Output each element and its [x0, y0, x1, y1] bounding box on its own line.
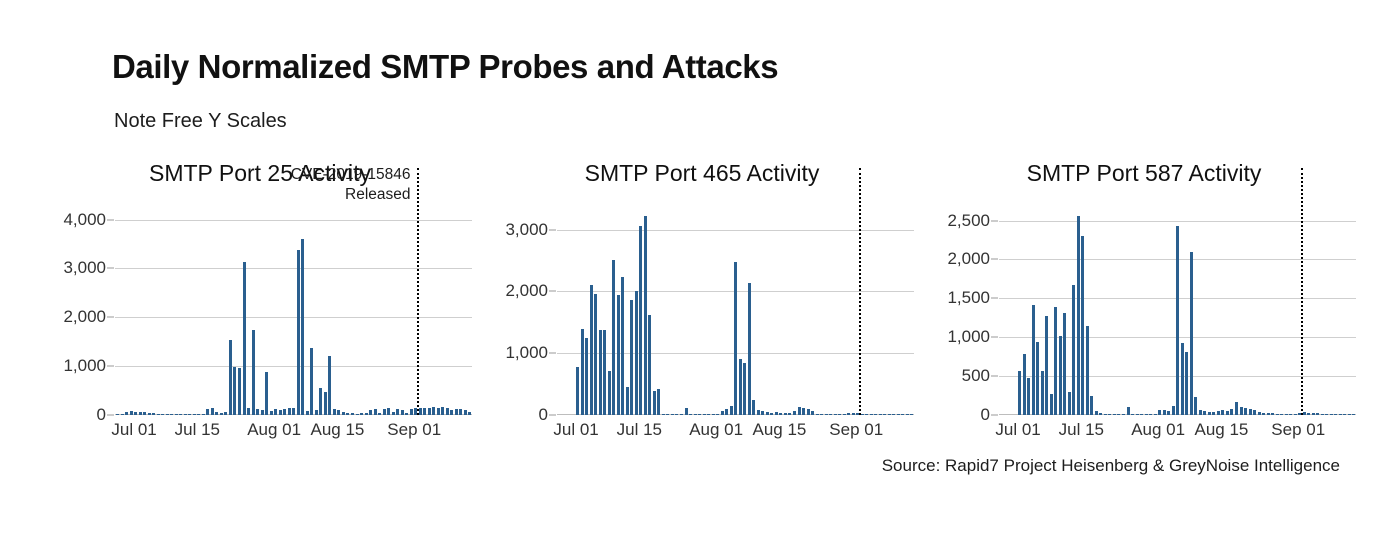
- bar: [125, 412, 128, 415]
- bar: [1316, 413, 1319, 415]
- bar: [761, 411, 764, 415]
- bar: [657, 389, 660, 415]
- bar: [1285, 414, 1288, 415]
- bar: [1072, 285, 1075, 415]
- x-axis-tick-label: Sep 01: [829, 420, 883, 440]
- bar: [383, 409, 386, 415]
- bar: [730, 406, 733, 415]
- bar: [229, 340, 232, 415]
- bar: [775, 412, 778, 415]
- x-axis-tick-label: Aug 15: [1194, 420, 1248, 440]
- bar: [297, 250, 300, 415]
- x-axis-tick-label: Jul 01: [553, 420, 598, 440]
- bar: [206, 409, 209, 415]
- bar: [879, 414, 882, 415]
- bar: [1117, 414, 1120, 415]
- bar: [1217, 411, 1220, 415]
- bar: [139, 412, 142, 415]
- bar: [617, 295, 620, 415]
- bar: [130, 411, 133, 415]
- bar: [152, 413, 155, 415]
- bar: [401, 410, 404, 415]
- bar: [639, 226, 642, 415]
- bar: [270, 411, 273, 415]
- bar: [834, 414, 837, 415]
- bar: [410, 409, 413, 415]
- bar: [1149, 414, 1152, 415]
- bar: [274, 409, 277, 415]
- bar: [319, 388, 322, 415]
- bar: [906, 414, 909, 415]
- y-axis-tick-label: 1,000: [947, 327, 990, 347]
- y-axis-tick-mark: [549, 229, 556, 230]
- bar: [675, 414, 678, 415]
- y-axis-tick-mark: [107, 366, 114, 367]
- bar: [662, 414, 665, 415]
- bar: [870, 414, 873, 415]
- bar: [365, 413, 368, 415]
- bar: [1145, 414, 1148, 415]
- bar: [1059, 336, 1062, 415]
- bar: [612, 260, 615, 415]
- bar: [1271, 413, 1274, 415]
- bar: [1235, 402, 1238, 415]
- bar: [1113, 414, 1116, 415]
- bar: [784, 413, 787, 415]
- y-axis-tick-label: 2,000: [505, 281, 548, 301]
- chart-title: SMTP Port 465 Activity: [482, 160, 922, 187]
- bar: [1230, 409, 1233, 415]
- bar: [1023, 354, 1026, 415]
- bar: [685, 408, 688, 415]
- y-axis-tick-mark: [107, 268, 114, 269]
- bar: [892, 414, 895, 415]
- bar: [698, 414, 701, 415]
- bar: [680, 414, 683, 415]
- bar: [324, 392, 327, 415]
- y-axis-tick-label: 3,000: [63, 258, 106, 278]
- bar: [288, 408, 291, 415]
- bar: [770, 413, 773, 415]
- bar: [184, 414, 187, 415]
- bar: [888, 414, 891, 415]
- x-axis-tick-label: Aug 01: [689, 420, 743, 440]
- chart-panel-port-587: SMTP Port 587 Activity 05001,0001,5002,0…: [924, 160, 1364, 450]
- y-axis-tick-label: 1,500: [947, 288, 990, 308]
- bar: [342, 412, 345, 415]
- bar: [252, 330, 255, 415]
- bar: [360, 413, 363, 415]
- x-axis-tick-label: Jul 01: [995, 420, 1040, 440]
- page-subtitle: Note Free Y Scales: [114, 110, 287, 133]
- bar: [1108, 414, 1111, 415]
- bar: [279, 410, 282, 415]
- y-axis-tick-mark: [549, 415, 556, 416]
- bar: [437, 408, 440, 415]
- y-axis-tick-mark: [991, 298, 998, 299]
- bar: [689, 414, 692, 415]
- y-axis-tick-mark: [991, 220, 998, 221]
- bar: [644, 216, 647, 416]
- bar: [807, 409, 810, 415]
- bar: [802, 408, 805, 415]
- bar: [816, 414, 819, 415]
- source-attribution: Source: Rapid7 Project Heisenberg & Grey…: [882, 456, 1340, 476]
- bar: [1194, 397, 1197, 415]
- bar: [694, 414, 697, 415]
- bar: [283, 409, 286, 415]
- bar: [464, 410, 467, 415]
- bar: [1276, 414, 1279, 415]
- bar: [1136, 414, 1139, 415]
- bar: [1334, 414, 1337, 415]
- bar: [1158, 410, 1161, 415]
- y-axis-tick-mark: [107, 317, 114, 318]
- y-axis-tick-label: 3,000: [505, 220, 548, 240]
- bar: [829, 414, 832, 415]
- bar: [261, 410, 264, 415]
- bar: [820, 414, 823, 415]
- x-axis-tick-label: Jul 01: [111, 420, 156, 440]
- bar: [1104, 414, 1107, 415]
- bar: [405, 413, 408, 415]
- bar: [1127, 407, 1130, 415]
- bar: [811, 411, 814, 415]
- bar: [446, 408, 449, 415]
- bar: [576, 367, 579, 415]
- bar: [351, 413, 354, 415]
- plot-area: 05001,0001,5002,0002,500Jul 01Jul 15Aug …: [999, 205, 1356, 415]
- plot-area: 01,0002,0003,0004,000CVE-2019-15846Relea…: [115, 205, 472, 415]
- bar: [1032, 305, 1035, 415]
- bar: [1063, 313, 1066, 415]
- bar: [423, 408, 426, 415]
- bar: [1330, 414, 1333, 415]
- bar: [459, 409, 462, 415]
- bar: [301, 239, 304, 415]
- bar: [1122, 414, 1125, 415]
- bar: [116, 414, 119, 415]
- bar: [671, 414, 674, 415]
- bar: [1289, 414, 1292, 415]
- bar: [1054, 307, 1057, 415]
- bar: [1190, 252, 1193, 415]
- y-axis-tick-mark: [107, 415, 114, 416]
- bar: [356, 414, 359, 415]
- x-axis-tick-label: Sep 01: [1271, 420, 1325, 440]
- chart-title: SMTP Port 587 Activity: [924, 160, 1364, 187]
- bar: [143, 412, 146, 415]
- cve-release-annotation: CVE-2019-15846Released: [291, 165, 417, 205]
- bar: [1050, 394, 1053, 415]
- bar: [910, 414, 913, 415]
- bar: [238, 368, 241, 415]
- bar: [779, 413, 782, 415]
- bar: [793, 411, 796, 415]
- bar: [428, 408, 431, 415]
- bar: [734, 262, 737, 415]
- bar: [748, 283, 751, 415]
- bar: [1018, 371, 1021, 415]
- bar: [621, 277, 624, 415]
- bar: [419, 408, 422, 415]
- bar: [1294, 414, 1297, 415]
- bar: [1176, 226, 1179, 415]
- bar: [1203, 411, 1206, 415]
- bar: [825, 414, 828, 415]
- bar: [852, 413, 855, 415]
- bar: [432, 407, 435, 415]
- bar: [707, 414, 710, 415]
- bar: [387, 408, 390, 415]
- bar: [441, 407, 444, 415]
- bar: [581, 329, 584, 415]
- bar: [211, 408, 214, 415]
- bar: [1041, 371, 1044, 415]
- bar: [310, 348, 313, 415]
- bar: [1185, 352, 1188, 415]
- bar: [233, 367, 236, 415]
- bar: [757, 410, 760, 415]
- y-axis-tick-label: 2,000: [63, 307, 106, 327]
- bar: [603, 330, 606, 415]
- bar: [148, 413, 151, 415]
- y-axis-tick-label: 0: [97, 405, 106, 425]
- bar: [590, 285, 593, 415]
- bar: [346, 413, 349, 415]
- bar: [1199, 410, 1202, 415]
- bar: [843, 414, 846, 415]
- bar: [1086, 326, 1089, 415]
- bar: [1140, 414, 1143, 415]
- x-axis-tick-label: Jul 15: [1059, 420, 1104, 440]
- bar: [1208, 412, 1211, 416]
- bar: [1167, 411, 1170, 415]
- bar: [1280, 414, 1283, 415]
- bar: [292, 408, 295, 415]
- y-axis-tick-mark: [549, 353, 556, 354]
- y-axis-tick-mark: [107, 219, 114, 220]
- bar: [1343, 414, 1346, 415]
- bar: [1027, 378, 1030, 415]
- bar: [315, 410, 318, 415]
- y-axis-tick-label: 0: [981, 405, 990, 425]
- bar: [739, 359, 742, 415]
- bar: [847, 413, 850, 415]
- y-axis-tick-label: 1,000: [505, 343, 548, 363]
- bar: [725, 409, 728, 415]
- bar: [666, 414, 669, 415]
- bar: [188, 414, 191, 415]
- y-axis-tick-mark: [991, 415, 998, 416]
- bar: [374, 409, 377, 415]
- bar: [703, 414, 706, 415]
- bar: [1240, 407, 1243, 415]
- bar: [1249, 409, 1252, 415]
- bar: [1181, 343, 1184, 415]
- bar: [468, 412, 471, 415]
- bar: [599, 330, 602, 415]
- bar: [215, 412, 218, 415]
- bar: [721, 411, 724, 415]
- bar: [1253, 410, 1256, 415]
- x-axis-tick-label: Aug 15: [752, 420, 806, 440]
- bar: [369, 410, 372, 415]
- bar: [788, 413, 791, 415]
- plot-area: 01,0002,0003,000Jul 01Jul 15Aug 01Aug 15…: [557, 205, 914, 415]
- bar: [193, 414, 196, 415]
- cve-release-marker-line: [417, 168, 419, 415]
- bar: [630, 300, 633, 415]
- bar: [594, 294, 597, 415]
- bar: [157, 414, 160, 415]
- y-axis-tick-label: 500: [962, 366, 990, 386]
- bar: [392, 412, 395, 415]
- bar: [306, 411, 309, 415]
- page-title: Daily Normalized SMTP Probes and Attacks: [112, 48, 778, 86]
- bar: [766, 412, 769, 415]
- bar: [1172, 406, 1175, 415]
- bar: [838, 414, 841, 415]
- bar: [865, 414, 868, 415]
- y-axis-tick-label: 2,000: [947, 249, 990, 269]
- y-axis-tick-label: 2,500: [947, 211, 990, 231]
- bar: [1267, 413, 1270, 415]
- bar: [798, 407, 801, 415]
- bar: [450, 410, 453, 415]
- bar: [161, 414, 164, 415]
- bar: [1325, 414, 1328, 415]
- bar: [333, 409, 336, 415]
- x-axis-tick-label: Aug 01: [1131, 420, 1185, 440]
- bar: [653, 391, 656, 415]
- bar: [1090, 396, 1093, 415]
- y-axis-tick-mark: [549, 291, 556, 292]
- bar: [743, 363, 746, 415]
- bar: [861, 414, 864, 415]
- bar: [220, 413, 223, 415]
- bar: [1095, 411, 1098, 415]
- bar: [883, 414, 886, 415]
- x-axis-tick-label: Sep 01: [387, 420, 441, 440]
- bar: [648, 315, 651, 415]
- bar: [1244, 408, 1247, 415]
- y-axis-tick-label: 1,000: [63, 356, 106, 376]
- bar: [175, 414, 178, 415]
- bar: [1339, 414, 1342, 415]
- bar: [243, 262, 246, 415]
- bar: [197, 414, 200, 415]
- bar: [635, 291, 638, 415]
- bar: [166, 414, 169, 415]
- bar: [134, 412, 137, 415]
- bar: [170, 414, 173, 415]
- y-axis-tick-mark: [991, 376, 998, 377]
- bar: [121, 414, 124, 415]
- bar: [1303, 412, 1306, 415]
- y-axis-tick-label: 4,000: [63, 210, 106, 230]
- bar: [396, 409, 399, 415]
- chart-panel-port-25: SMTP Port 25 Activity 01,0002,0003,0004,…: [40, 160, 480, 450]
- bar: [256, 409, 259, 415]
- bar: [1212, 412, 1215, 415]
- y-axis-tick-mark: [991, 259, 998, 260]
- cve-release-marker-line: [859, 168, 861, 415]
- chart-panel-port-465: SMTP Port 465 Activity 01,0002,0003,000J…: [482, 160, 922, 450]
- cve-annotation-line-1: CVE-2019-15846: [291, 165, 411, 185]
- bar: [1258, 412, 1261, 415]
- bar: [1307, 413, 1310, 415]
- bar: [1068, 392, 1071, 415]
- bar: [752, 400, 755, 415]
- cve-annotation-line-2: Released: [291, 185, 411, 205]
- x-axis-tick-label: Aug 01: [247, 420, 301, 440]
- bar: [1045, 316, 1048, 415]
- bar: [1348, 414, 1351, 415]
- bar: [224, 412, 227, 415]
- bar: [608, 371, 611, 415]
- bar: [337, 410, 340, 415]
- y-axis-tick-label: 0: [539, 405, 548, 425]
- bar: [585, 338, 588, 415]
- bar: [328, 356, 331, 415]
- bar: [455, 409, 458, 415]
- x-axis-tick-label: Aug 15: [310, 420, 364, 440]
- cve-release-marker-line: [1301, 168, 1303, 415]
- bar: [1163, 410, 1166, 415]
- bar: [1226, 411, 1229, 415]
- bar: [202, 414, 205, 415]
- bar: [712, 414, 715, 415]
- bar: [1131, 414, 1134, 415]
- x-axis-tick-label: Jul 15: [175, 420, 220, 440]
- bar: [378, 413, 381, 415]
- bar: [1352, 414, 1355, 415]
- x-axis-tick-label: Jul 15: [617, 420, 662, 440]
- bar: [1036, 342, 1039, 415]
- bar: [1077, 216, 1080, 415]
- bar: [1099, 413, 1102, 415]
- bar: [1312, 413, 1315, 415]
- bar: [1081, 236, 1084, 415]
- bar: [1262, 413, 1265, 415]
- y-axis-tick-mark: [991, 337, 998, 338]
- bar: [874, 414, 877, 415]
- bar: [901, 414, 904, 415]
- bar: [265, 372, 268, 415]
- bar: [897, 414, 900, 415]
- bar: [179, 414, 182, 415]
- bar: [626, 387, 629, 415]
- bar: [1154, 414, 1157, 415]
- bar: [1321, 414, 1324, 415]
- bar: [1221, 410, 1224, 415]
- bar: [247, 408, 250, 415]
- bar: [716, 414, 719, 415]
